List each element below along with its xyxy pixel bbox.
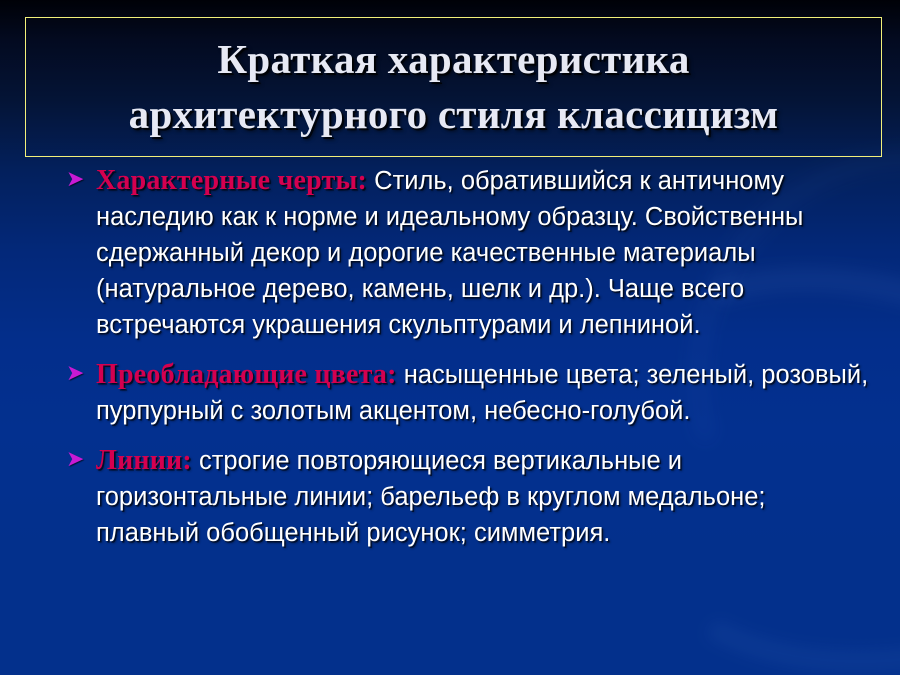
- slide-title-line-1: Краткая характеристика: [217, 32, 689, 87]
- slide-title-box: Краткая характеристика архитектурного ст…: [25, 17, 882, 157]
- bullet-lead-in-1: Характерные черты:: [96, 165, 367, 196]
- bullet-lead-in-3: Линии:: [96, 445, 192, 476]
- presentation-slide: Краткая характеристика архитектурного ст…: [0, 0, 900, 675]
- list-item: ➤ Преобладающие цвета: насыщенные цвета;…: [0, 357, 900, 429]
- bullet-text-3: Линии: строгие повторяющиеся вертикальны…: [96, 443, 870, 551]
- bullet-body-3: строгие повторяющиеся вертикальные и гор…: [96, 447, 765, 547]
- arrow-bullet-icon: ➤: [66, 363, 88, 385]
- arrow-bullet-icon: ➤: [66, 449, 88, 471]
- slide-body: ➤ Характерные черты: Стиль, обратившийся…: [0, 163, 900, 565]
- bullet-lead-in-2: Преобладающие цвета:: [96, 359, 397, 390]
- list-item: ➤ Линии: строгие повторяющиеся вертикаль…: [0, 443, 900, 551]
- list-item: ➤ Характерные черты: Стиль, обратившийся…: [0, 163, 900, 343]
- bullet-text-2: Преобладающие цвета: насыщенные цвета; з…: [96, 357, 870, 429]
- slide-title-line-2: архитектурного стиля классицизм: [129, 87, 779, 142]
- bullet-text-1: Характерные черты: Стиль, обратившийся к…: [96, 163, 870, 343]
- arrow-bullet-icon: ➤: [66, 169, 88, 191]
